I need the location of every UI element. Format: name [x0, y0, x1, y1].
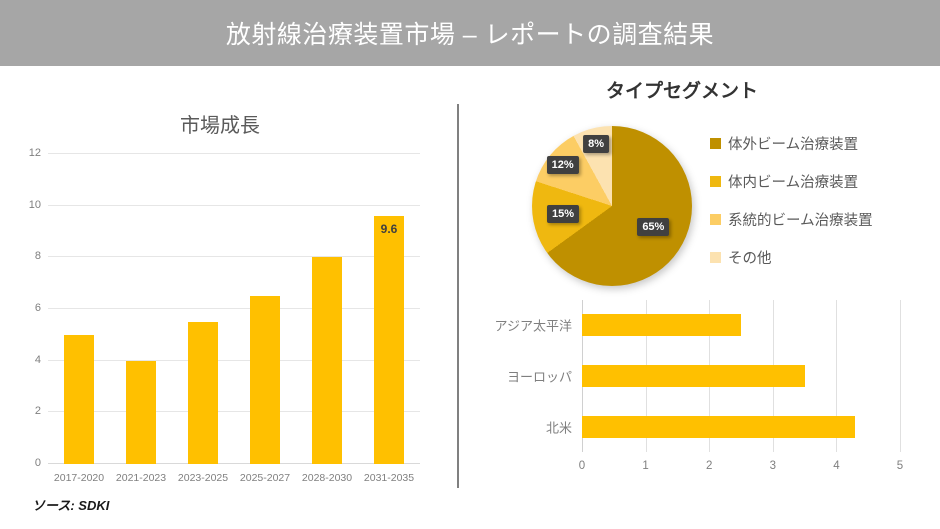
- bar-chart-bar: [250, 296, 280, 464]
- bar-chart-x-tick-label: 2023-2025: [178, 472, 228, 484]
- bar-chart-gridline: 4: [48, 360, 420, 361]
- bar-chart-gridline: 8: [48, 256, 420, 257]
- bar-chart-gridline: 6: [48, 308, 420, 309]
- pie-legend-label: 体外ビーム治療装置: [728, 133, 858, 154]
- bar-chart-gridline: 2: [48, 411, 420, 412]
- market-growth-chart: 市場成長 0246810122017-20202021-20232023-202…: [0, 66, 457, 529]
- pie-slice-percentage-label: 8%: [583, 135, 609, 153]
- hbar-chart-category-label: アジア太平洋: [495, 316, 572, 335]
- pie-slice-percentage-label: 65%: [637, 218, 669, 236]
- pie-legend-label: その他: [728, 247, 772, 268]
- pie-slice-percentage-label: 15%: [547, 205, 579, 223]
- pie-legend-label: 系統的ビーム治療装置: [728, 209, 873, 230]
- pie-legend-swatch: [710, 138, 721, 149]
- bar-chart-gridline: 12: [48, 153, 420, 154]
- hbar-chart-x-tick-label: 5: [897, 460, 903, 472]
- bar-chart-title: 市場成長: [0, 109, 440, 138]
- pie-legend-item: 系統的ビーム治療装置: [710, 200, 940, 238]
- bar-chart-y-tick-label: 12: [29, 147, 41, 159]
- pie-chart: 65%15%12%8%: [532, 126, 692, 286]
- pie-legend-item: 体外ビーム治療装置: [710, 124, 940, 162]
- bar-chart-x-tick-label: 2028-2030: [302, 472, 352, 484]
- bar-chart-bar: [126, 361, 156, 464]
- pie-legend-swatch: [710, 214, 721, 225]
- bar-chart-gridline: 10: [48, 205, 420, 206]
- bar-chart-y-tick-label: 6: [35, 302, 41, 314]
- pie-legend-label: 体内ビーム治療装置: [728, 171, 858, 192]
- pie-slice-percentage-label: 12%: [547, 156, 579, 174]
- pie-legend-item: その他: [710, 238, 940, 276]
- regional-share-chart: 012345アジア太平洋ヨーロッパ北米: [457, 294, 940, 494]
- bar-chart-bar: 9.6: [374, 216, 404, 464]
- bar-chart-bar: [188, 322, 218, 464]
- bar-chart-y-tick-label: 0: [35, 457, 41, 469]
- pie-legend-item: 体内ビーム治療装置: [710, 162, 940, 200]
- bar-chart-y-tick-label: 10: [29, 199, 41, 211]
- hbar-chart-x-tick-label: 1: [642, 460, 648, 472]
- bar-chart-bar: [64, 335, 94, 464]
- header-banner: 放射線治療装置市場 – レポートの調査結果: [0, 0, 940, 66]
- bar-chart-gridline: 0: [48, 463, 420, 464]
- bar-chart-value-label: 9.6: [381, 222, 398, 236]
- pie-legend-swatch: [710, 176, 721, 187]
- hbar-chart-x-tick-label: 3: [770, 460, 776, 472]
- bar-chart-x-tick-label: 2017-2020: [54, 472, 104, 484]
- hbar-chart-bar: [582, 314, 741, 336]
- hbar-chart-x-tick-label: 0: [579, 460, 585, 472]
- page-title: 放射線治療装置市場 – レポートの調査結果: [226, 15, 714, 51]
- hbar-chart-category-label: 北米: [546, 417, 572, 436]
- bar-chart-plot-area: 0246810122017-20202021-20232023-20252025…: [48, 154, 420, 464]
- bar-chart-y-tick-label: 2: [35, 405, 41, 417]
- source-note: ソース: SDKI: [32, 495, 109, 514]
- hbar-chart-gridline: [900, 300, 901, 452]
- hbar-chart-category-label: ヨーロッパ: [507, 367, 572, 386]
- hbar-chart-bar: [582, 365, 805, 387]
- bar-chart-x-tick-label: 2021-2023: [116, 472, 166, 484]
- hbar-chart-x-tick-label: 2: [706, 460, 712, 472]
- bar-chart-x-tick-label: 2031-2035: [364, 472, 414, 484]
- regional-share-plot-area: 012345アジア太平洋ヨーロッパ北米: [582, 300, 900, 452]
- bar-chart-y-tick-label: 8: [35, 250, 41, 262]
- pie-chart-title: タイプセグメント: [517, 76, 847, 103]
- bar-chart-bar: [312, 257, 342, 464]
- hbar-chart-bar: [582, 416, 855, 438]
- right-panel: タイプセグメント 65%15%12%8% 体外ビーム治療装置体内ビーム治療装置系…: [457, 66, 940, 529]
- bar-chart-y-tick-label: 4: [35, 354, 41, 366]
- pie-legend-swatch: [710, 252, 721, 263]
- pie-legend: 体外ビーム治療装置体内ビーム治療装置系統的ビーム治療装置その他: [710, 124, 940, 276]
- bar-chart-x-tick-label: 2025-2027: [240, 472, 290, 484]
- hbar-chart-x-tick-label: 4: [833, 460, 839, 472]
